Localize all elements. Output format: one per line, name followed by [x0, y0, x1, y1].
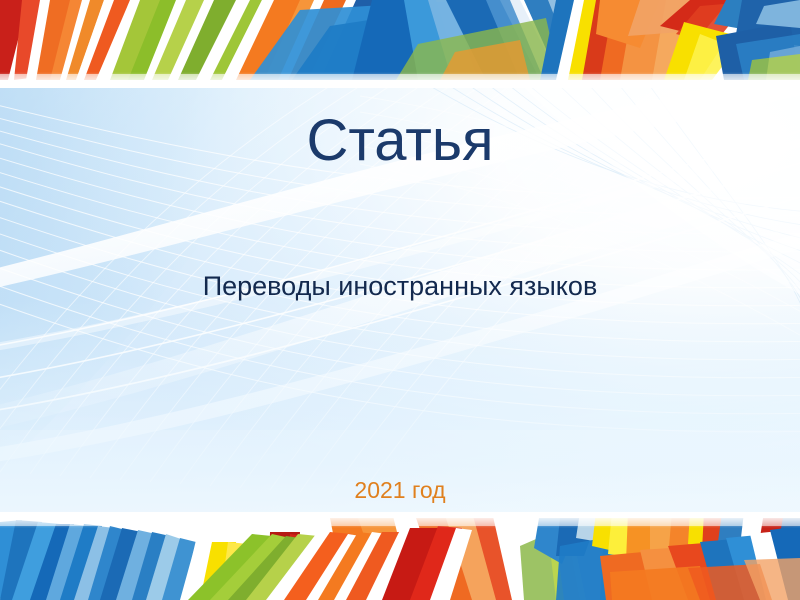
- geometric-shard-border-top: [0, 0, 800, 88]
- slide-year[interactable]: 2021 год: [0, 478, 800, 503]
- slide-subtitle[interactable]: Переводы иностранных языков: [0, 272, 800, 302]
- slide-title[interactable]: Статья: [0, 112, 800, 170]
- geometric-shard-border-bottom: [0, 512, 800, 600]
- presentation-slide: Статья Переводы иностранных языков 2021 …: [0, 0, 800, 600]
